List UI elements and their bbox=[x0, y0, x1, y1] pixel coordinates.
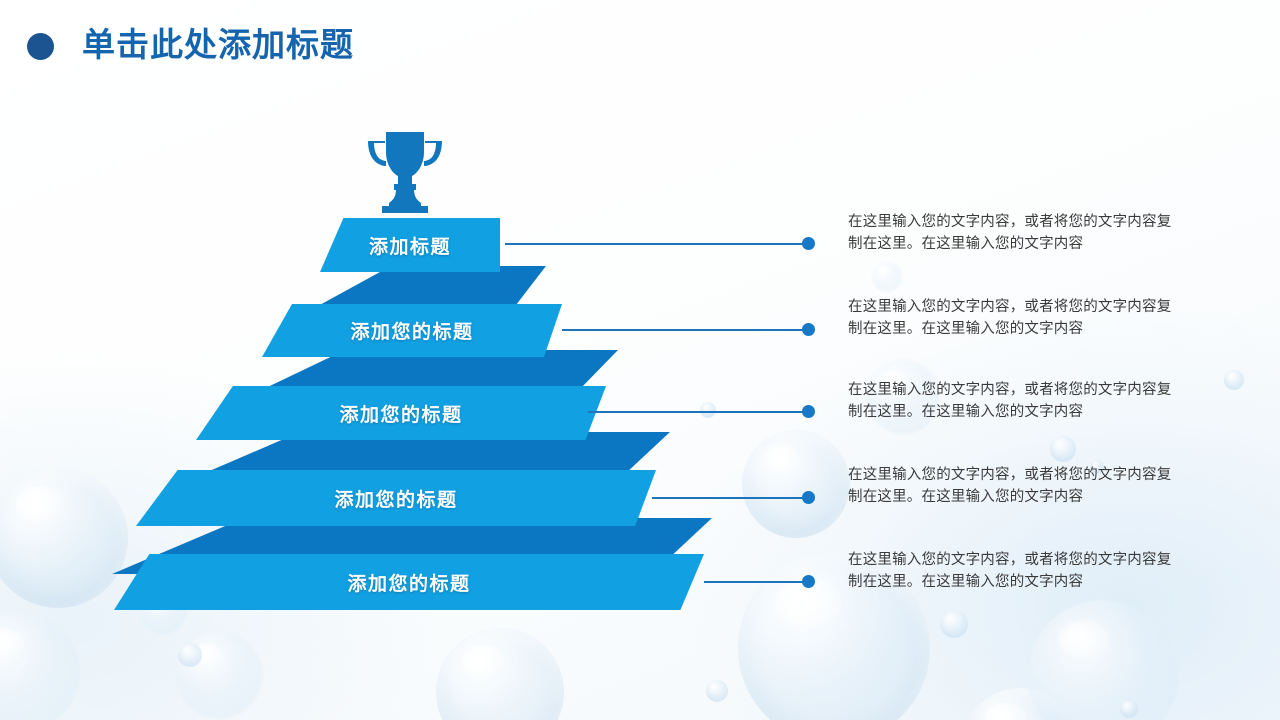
pyramid-level-2-label: 添加您的标题 bbox=[262, 304, 562, 357]
connector-line bbox=[505, 243, 805, 245]
description-1: 在这里输入您的文字内容，或者将您的文字内容复制在这里。在这里输入您的文字内容 bbox=[848, 211, 1178, 255]
connector-line bbox=[588, 411, 805, 413]
pyramid-level-5-face: 添加您的标题 bbox=[114, 554, 704, 610]
description-4: 在这里输入您的文字内容，或者将您的文字内容复制在这里。在这里输入您的文字内容 bbox=[848, 464, 1178, 508]
description-2: 在这里输入您的文字内容，或者将您的文字内容复制在这里。在这里输入您的文字内容 bbox=[848, 296, 1178, 340]
pyramid-level-5-label: 添加您的标题 bbox=[114, 554, 704, 610]
connector-line bbox=[652, 497, 805, 499]
connector-dot bbox=[802, 491, 815, 504]
connector-dot bbox=[802, 575, 815, 588]
bubble-decoration bbox=[872, 262, 902, 292]
bubble-decoration bbox=[940, 610, 968, 638]
bubble-decoration bbox=[1028, 600, 1178, 720]
connector-4 bbox=[652, 491, 817, 505]
connector-line bbox=[704, 581, 805, 583]
bubble-decoration bbox=[1050, 436, 1076, 462]
bubble-decoration bbox=[1224, 370, 1244, 390]
connector-5 bbox=[704, 575, 817, 589]
pyramid-level-4-face: 添加您的标题 bbox=[136, 470, 656, 526]
pyramid-level-4-label: 添加您的标题 bbox=[136, 470, 656, 526]
connector-1 bbox=[505, 237, 817, 251]
slide-canvas: 单击此处添加标题 添加标题 添加您的标题 bbox=[0, 0, 1280, 720]
description-5: 在这里输入您的文字内容，或者将您的文字内容复制在这里。在这里输入您的文字内容 bbox=[848, 549, 1178, 593]
pyramid-level-2-face: 添加您的标题 bbox=[262, 304, 562, 357]
bubble-decoration bbox=[962, 688, 1078, 720]
pyramid-level-3-label: 添加您的标题 bbox=[196, 386, 606, 440]
pyramid-level-1-label: 添加标题 bbox=[320, 218, 500, 272]
connector-2 bbox=[562, 323, 817, 337]
connector-dot bbox=[802, 323, 815, 336]
connector-dot bbox=[802, 405, 815, 418]
pyramid-level-1-face: 添加标题 bbox=[320, 218, 500, 272]
connector-line bbox=[562, 329, 805, 331]
pyramid-chart: 添加标题 添加您的标题 添加您的标题 添加您的标题 添 bbox=[0, 0, 780, 720]
bubble-decoration bbox=[1120, 700, 1138, 718]
connector-3 bbox=[588, 405, 817, 419]
description-3: 在这里输入您的文字内容，或者将您的文字内容复制在这里。在这里输入您的文字内容 bbox=[848, 379, 1178, 423]
connector-dot bbox=[802, 237, 815, 250]
pyramid-level-3-face: 添加您的标题 bbox=[196, 386, 606, 440]
